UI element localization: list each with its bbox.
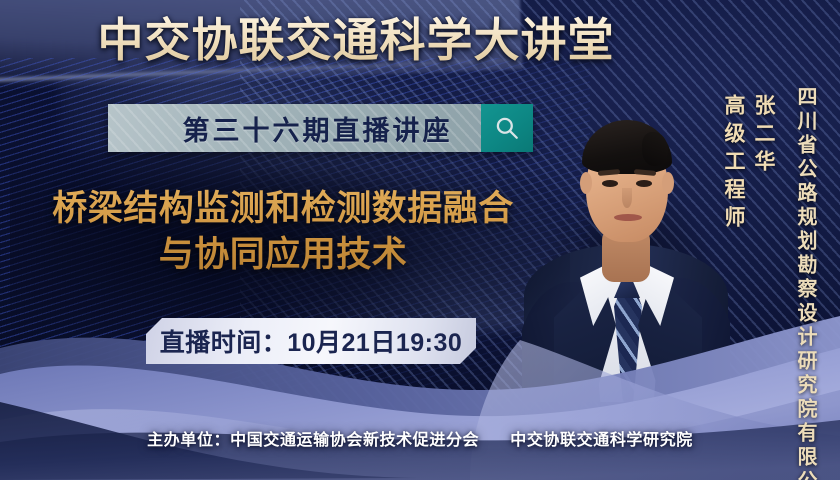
session-search-bar[interactable]: 第三十六期直播讲座 [108, 104, 533, 152]
portrait-ear-right [662, 172, 674, 194]
speaker-name: 张二华 [752, 94, 775, 178]
webinar-poster: 中交协联交通科学大讲堂 第三十六期直播讲座 桥梁结构监测和检测数据融合 与协同应… [0, 0, 840, 480]
portrait-mouth [614, 214, 642, 221]
page-title: 中交协联交通科学大讲堂 [0, 14, 712, 67]
headline-line-2: 与协同应用技术 [26, 232, 540, 278]
footer-organizers: 主办单位：中国交通运输协会新技术促进分会 中交协联交通科学研究院 [0, 426, 840, 450]
footer-organizer-label: 主办单位：中国交通运输协会新技术促进分会 [147, 432, 479, 449]
broadcast-time-text: 直播时间：10月21日19:30 [160, 323, 463, 359]
search-button[interactable] [481, 104, 533, 152]
headline-line-1: 桥梁结构监测和检测数据融合 [52, 189, 514, 228]
portrait-hair [582, 120, 672, 174]
portrait-eye-right [636, 180, 652, 187]
speaker-rank: 高级工程师 [722, 94, 745, 234]
broadcast-time-badge: 直播时间：10月21日19:30 [146, 318, 476, 364]
session-label: 第三十六期直播讲座 [137, 109, 453, 148]
search-icon [494, 115, 520, 141]
speaker-organization: 四川省公路规划勘察设计研究院有限公司 [791, 86, 820, 448]
footer-co-organizer: 中交协联交通科学研究院 [510, 432, 693, 449]
portrait-eye-left [602, 180, 618, 187]
speaker-name-block: 张二华 高级工程师 [718, 94, 778, 309]
portrait-ear-left [580, 172, 592, 194]
portrait-nose [622, 188, 632, 208]
search-input[interactable]: 第三十六期直播讲座 [108, 104, 481, 152]
lecture-headline: 桥梁结构监测和检测数据融合 与协同应用技术 [26, 186, 540, 278]
